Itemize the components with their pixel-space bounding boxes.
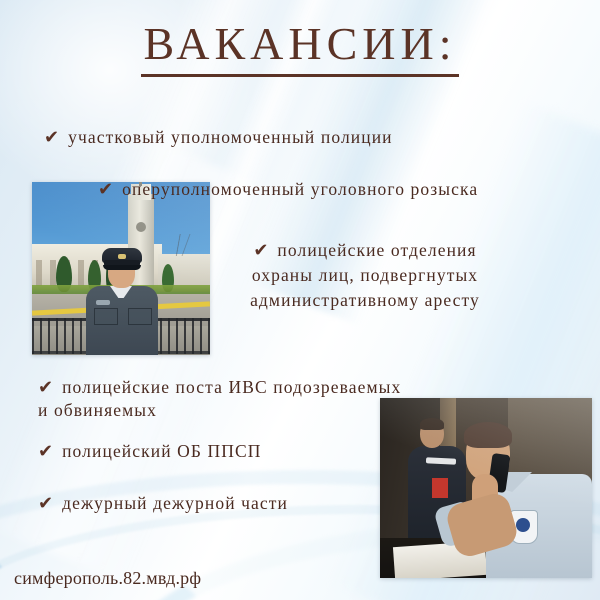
- photo-officer-station: [32, 182, 210, 355]
- background-officer-tag: [432, 478, 448, 498]
- list-item: ✔полицейский ОБ ППСП: [38, 440, 262, 463]
- uniform-pocket: [128, 308, 152, 325]
- list-item-label: оперуполномоченный уголовного розыска: [122, 179, 478, 199]
- check-icon: ✔: [44, 127, 59, 148]
- list-item-label: полицейские отделения охраны лиц, подвер…: [250, 240, 480, 310]
- list-item-label: участковый уполномоченный полиции: [68, 127, 393, 147]
- photo-officer-phone: [380, 398, 592, 578]
- list-item: ✔участковый уполномоченный полиции: [44, 126, 393, 149]
- foreground-officer-hair: [464, 422, 512, 448]
- check-icon: ✔: [38, 377, 53, 398]
- list-item: ✔оперуполномоченный уголовного розыска: [98, 178, 478, 201]
- cap-visor: [103, 265, 141, 270]
- page-title-text: ВАКАНСИИ:: [141, 18, 458, 77]
- background-officer-hair: [420, 418, 444, 430]
- footer-website: симферополь.82.мвд.рф: [14, 568, 201, 589]
- uniform-pocket: [94, 308, 118, 325]
- list-item: ✔полицейские поста ИВС подозреваемых и о…: [38, 376, 401, 422]
- list-item: ✔дежурный дежурной части: [38, 492, 288, 515]
- vacancy-poster: ВАКАНСИИ: ✔участковый уполномоченный пол…: [0, 0, 600, 600]
- list-item-label: дежурный дежурной части: [62, 493, 288, 513]
- check-icon: ✔: [38, 493, 53, 514]
- check-icon: ✔: [98, 179, 113, 200]
- cap-cockade: [118, 254, 126, 259]
- check-icon: ✔: [253, 240, 268, 261]
- list-item-label: полицейский ОБ ППСП: [62, 441, 261, 461]
- uniform-badge: [96, 300, 110, 305]
- tower-clock: [136, 222, 146, 232]
- page-title: ВАКАНСИИ:: [0, 18, 600, 77]
- list-item-label: полицейские поста ИВС подозреваемых и об…: [38, 377, 401, 420]
- check-icon: ✔: [38, 441, 53, 462]
- sleeve-patch-emblem: [516, 518, 530, 532]
- list-item: ✔полицейские отделения охраны лиц, подве…: [200, 238, 530, 313]
